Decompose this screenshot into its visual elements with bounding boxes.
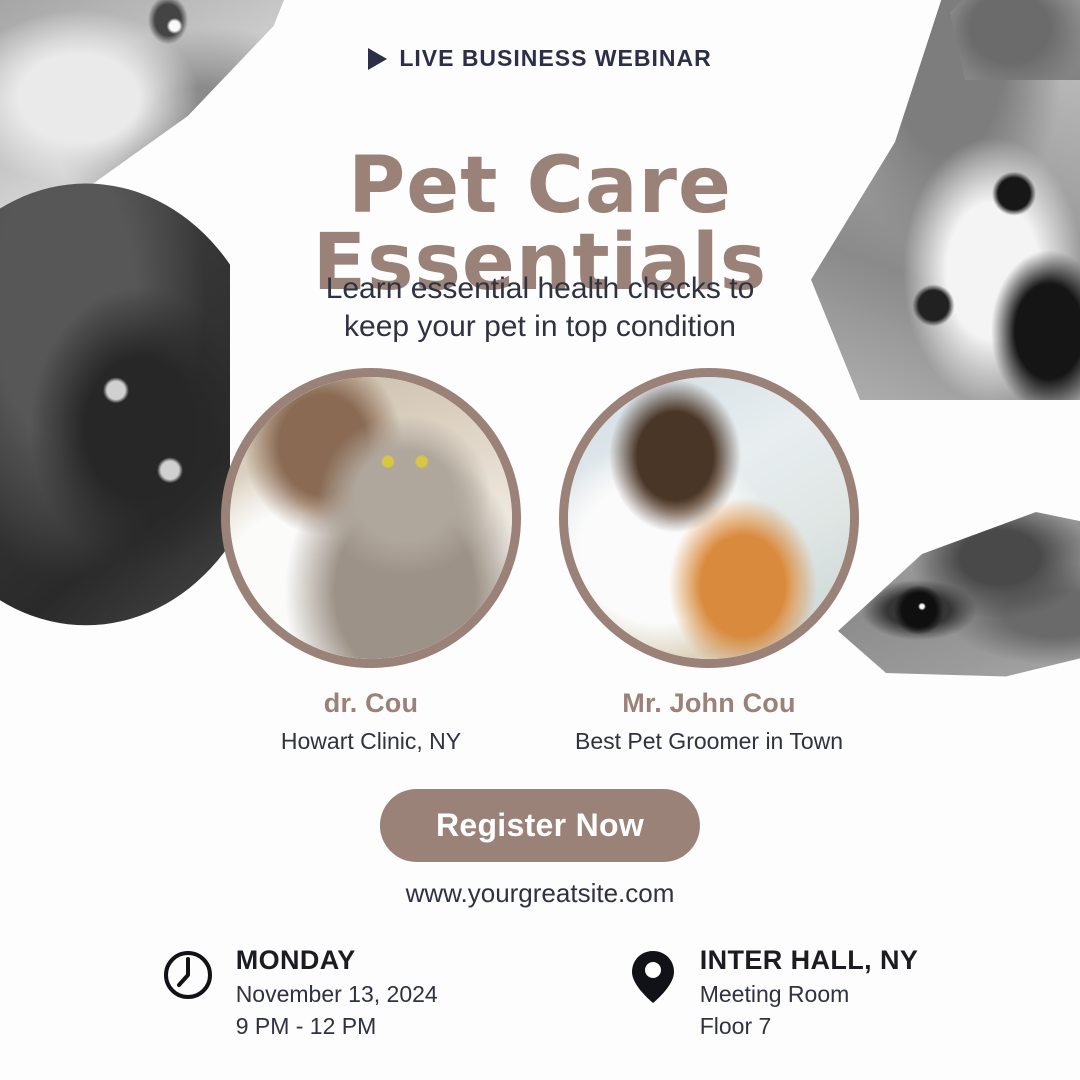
footer-info: MONDAY November 13, 2024 9 PM - 12 PM IN… [0,945,1080,1040]
speaker-role: Howart Clinic, NY [221,728,521,755]
speaker-card: Mr. John Cou Best Pet Groomer in Town [559,368,859,755]
eyebrow-label: LIVE BUSINESS WEBINAR [399,45,711,72]
subtitle-line-2: keep your pet in top condition [0,308,1080,346]
venue-heading: INTER HALL, NY [700,945,919,976]
schedule-text: MONDAY November 13, 2024 9 PM - 12 PM [236,945,438,1040]
venue-text: INTER HALL, NY Meeting Room Floor 7 [700,945,919,1040]
speaker-name: Mr. John Cou [559,688,859,719]
avatar [559,368,859,668]
schedule-info: MONDAY November 13, 2024 9 PM - 12 PM [162,945,438,1040]
speaker-photo-woman-with-cat [230,377,512,659]
subtitle: Learn essential health checks to keep yo… [0,270,1080,347]
avatar [221,368,521,668]
webinar-poster: LIVE BUSINESS WEBINAR Pet Care Essential… [0,0,1080,1080]
eyebrow-banner: LIVE BUSINESS WEBINAR [0,45,1080,72]
speaker-photo-man-with-cat [568,377,850,659]
venue-floor: Floor 7 [700,1013,919,1040]
title-line-1: Pet Care [0,148,1080,224]
clock-icon [162,949,214,1006]
speaker-list: dr. Cou Howart Clinic, NY Mr. John Cou B… [0,368,1080,755]
schedule-heading: MONDAY [236,945,438,976]
venue-room: Meeting Room [700,981,919,1008]
speaker-name: dr. Cou [221,688,521,719]
speaker-role: Best Pet Groomer in Town [559,728,859,755]
schedule-time: 9 PM - 12 PM [236,1013,438,1040]
website-url[interactable]: www.yourgreatsite.com [0,878,1080,909]
speaker-card: dr. Cou Howart Clinic, NY [221,368,521,755]
register-now-button[interactable]: Register Now [380,789,700,862]
subtitle-line-1: Learn essential health checks to [0,270,1080,308]
schedule-date: November 13, 2024 [236,981,438,1008]
venue-info: INTER HALL, NY Meeting Room Floor 7 [628,945,919,1040]
location-pin-icon [628,949,678,1010]
play-triangle-icon [368,48,387,70]
